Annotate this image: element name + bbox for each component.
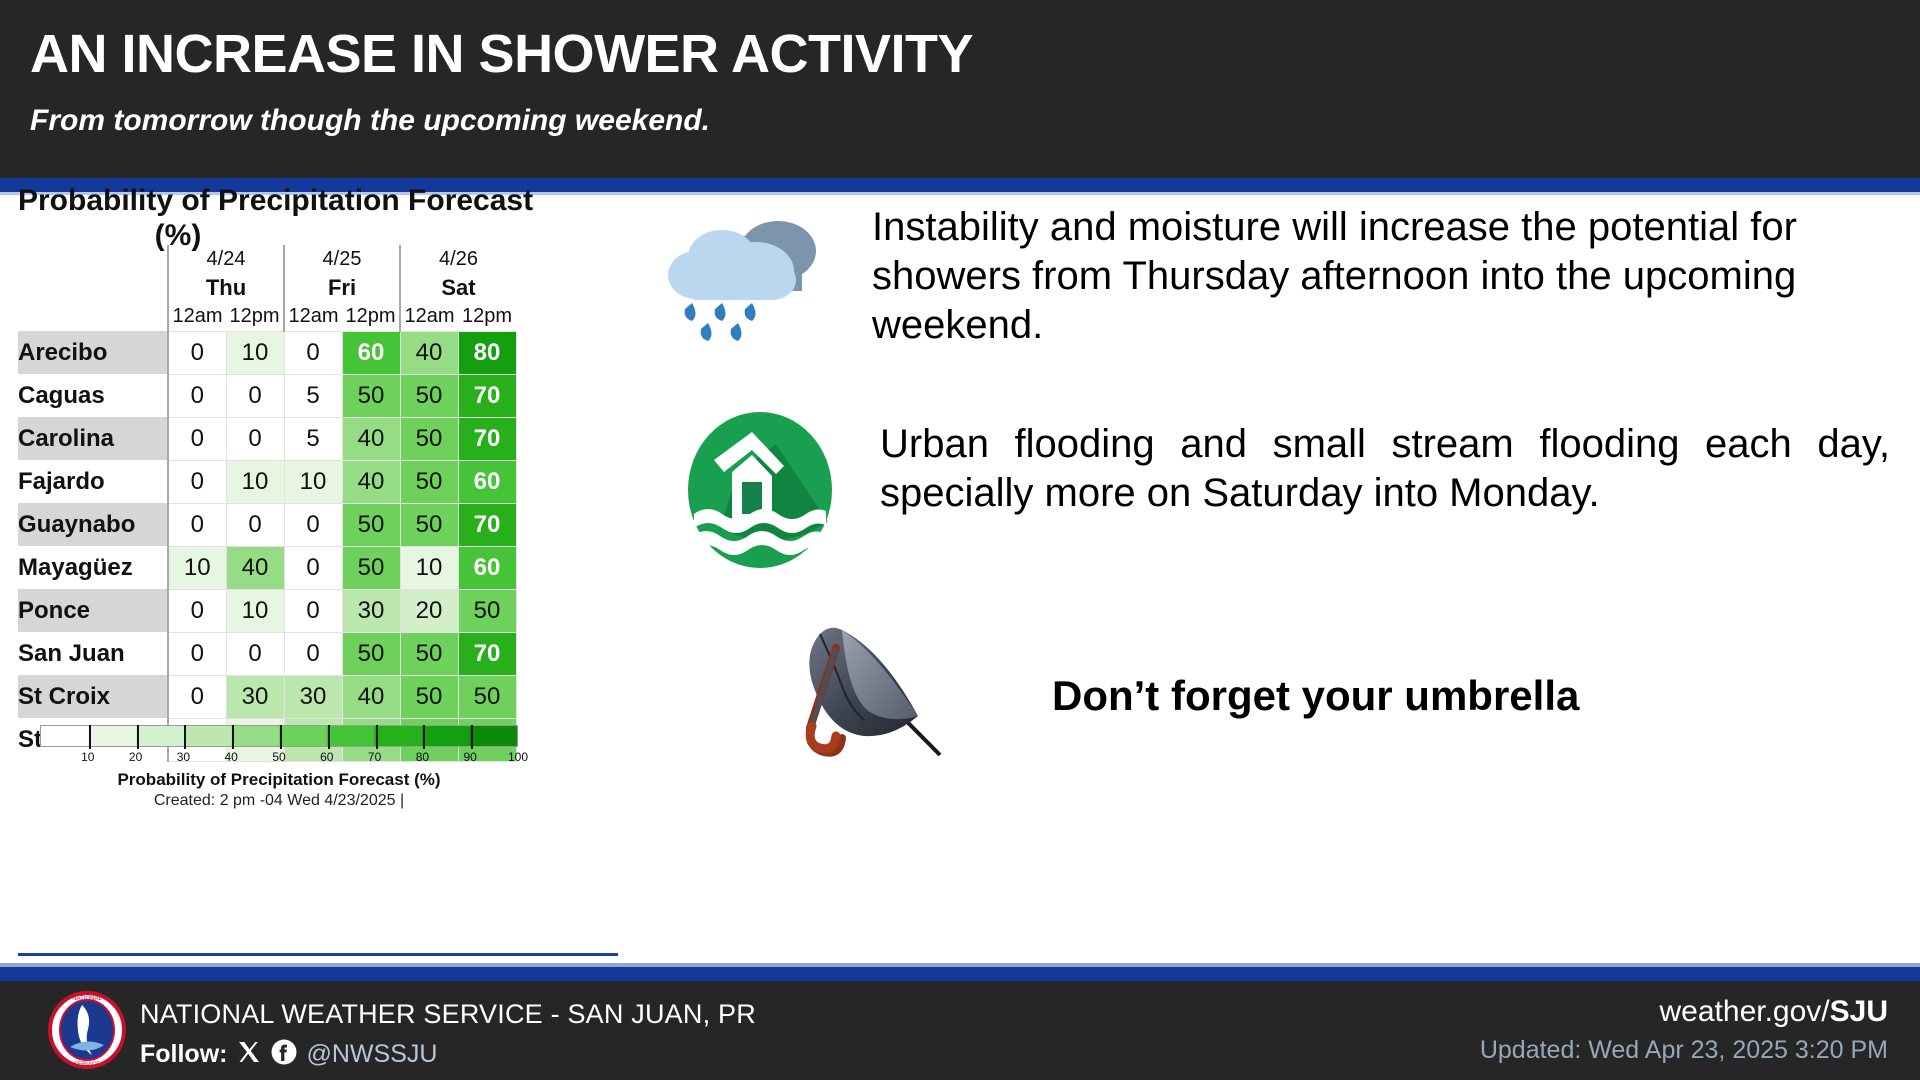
pop-cell: 50 (400, 417, 458, 460)
pop-header-date: 4/26 (400, 245, 516, 273)
pop-cell: 0 (168, 417, 226, 460)
footer-blue-rule (0, 967, 1920, 981)
pop-cell: 0 (284, 632, 342, 675)
table-row: St Croix03030405050 (18, 675, 516, 718)
pop-cell: 50 (342, 374, 400, 417)
umbrella-icon (790, 610, 970, 790)
content-area: Probability of Precipitation Forecast (%… (0, 195, 1920, 965)
footer-bar: NATIONAL SERVICE NATIONAL WEATHER SERVIC… (0, 981, 1920, 1080)
pop-row-city: Ponce (18, 589, 168, 632)
pop-cell: 70 (458, 417, 516, 460)
colorbar-tick (89, 725, 91, 749)
colorbar-tick-label: 100 (508, 750, 528, 764)
colorbar-tick-label: 90 (464, 750, 477, 764)
footer-website-prefix: weather.gov/ (1660, 995, 1830, 1028)
pop-cell: 70 (458, 503, 516, 546)
pop-cell: 70 (458, 632, 516, 675)
nws-seal-logo: NATIONAL SERVICE (48, 991, 126, 1069)
header-banner: AN INCREASE IN SHOWER ACTIVITY From tomo… (0, 0, 1920, 178)
pop-header-date: 4/25 (284, 245, 400, 273)
pop-cell: 0 (168, 374, 226, 417)
pop-table-hour-row: 12am12pm12am12pm12am12pm (18, 303, 516, 331)
pop-cell: 0 (168, 503, 226, 546)
pop-cell: 5 (284, 417, 342, 460)
table-row: Guaynabo000505070 (18, 503, 516, 546)
pop-cell: 5 (284, 374, 342, 417)
pop-table-day-row: ThuFriSat (18, 273, 516, 303)
pop-cell: 0 (168, 460, 226, 503)
colorbar-tick (232, 725, 234, 749)
table-row: Mayagüez10400501060 (18, 546, 516, 589)
pop-cell: 30 (342, 589, 400, 632)
pop-cell: 70 (458, 374, 516, 417)
pop-cell: 50 (342, 546, 400, 589)
pop-cell: 0 (168, 589, 226, 632)
corner-cell-3 (18, 303, 168, 331)
page-subtitle: From tomorrow though the upcoming weeken… (30, 104, 710, 138)
footer-updated-stamp: Updated: Wed Apr 23, 2025 3:20 PM (1480, 1036, 1888, 1065)
pop-cell: 10 (226, 460, 284, 503)
pop-title-line1: Probability of Precipitation Forecast (18, 183, 618, 218)
table-row: Caguas005505070 (18, 374, 516, 417)
pop-cell: 30 (226, 675, 284, 718)
pop-cell: 40 (342, 460, 400, 503)
corner-cell-2 (18, 273, 168, 303)
svg-text:NATIONAL: NATIONAL (72, 996, 102, 1002)
pop-header-day: Fri (284, 273, 400, 303)
pop-header-hour: 12am (168, 303, 226, 331)
pop-cell: 60 (458, 546, 516, 589)
pop-cell: 0 (226, 632, 284, 675)
pop-colorbar-ticklabels: 102030405060708090100 (40, 750, 518, 768)
pop-cell: 0 (168, 675, 226, 718)
corner-cell (18, 245, 168, 273)
bullet-showers-text: Instability and moisture will increase t… (872, 203, 1884, 349)
footer-website-office: SJU (1830, 995, 1888, 1028)
svg-text:SERVICE: SERVICE (74, 1062, 100, 1068)
rain-cloud-icon (660, 205, 850, 345)
pop-forecast-panel: Probability of Precipitation Forecast (%… (18, 195, 618, 955)
pop-cell: 0 (226, 417, 284, 460)
colorbar-tick-label: 60 (320, 750, 333, 764)
pop-row-city: St Croix (18, 675, 168, 718)
pop-cell: 50 (400, 374, 458, 417)
bullet-umbrella-text: Don’t forget your umbrella (1052, 672, 1872, 720)
panel-bottom-divider (18, 953, 618, 956)
pop-row-city: Caguas (18, 374, 168, 417)
colorbar-tick-label: 30 (177, 750, 190, 764)
pop-header-hour: 12am (284, 303, 342, 331)
pop-cell: 10 (168, 546, 226, 589)
pop-cell: 20 (400, 589, 458, 632)
pop-header-hour: 12am (400, 303, 458, 331)
colorbar-tick-label: 40 (225, 750, 238, 764)
colorbar-tick (280, 725, 282, 749)
pop-table-date-row: 4/244/254/26 (18, 245, 516, 273)
pop-row-city: Fajardo (18, 460, 168, 503)
pop-cell: 40 (342, 675, 400, 718)
pop-cell: 0 (168, 632, 226, 675)
pop-table-head: 4/244/254/26 ThuFriSat 12am12pm12am12pm1… (18, 245, 516, 331)
facebook-icon[interactable] (271, 1039, 297, 1070)
colorbar-tick (423, 725, 425, 749)
colorbar-tick (184, 725, 186, 749)
pop-cell: 50 (400, 632, 458, 675)
pop-header-hour: 12pm (226, 303, 284, 331)
pop-cell: 10 (226, 331, 284, 374)
colorbar-tick-label: 10 (81, 750, 94, 764)
pop-cell: 40 (400, 331, 458, 374)
pop-cell: 0 (284, 546, 342, 589)
colorbar-tick-label: 20 (129, 750, 142, 764)
colorbar-tick-label: 50 (272, 750, 285, 764)
pop-cell: 40 (342, 417, 400, 460)
pop-row-city: San Juan (18, 632, 168, 675)
pop-row-city: Guaynabo (18, 503, 168, 546)
x-twitter-icon[interactable] (236, 1039, 262, 1070)
pop-header-day: Thu (168, 273, 284, 303)
pop-row-city: Arecibo (18, 331, 168, 374)
pop-cell: 0 (168, 331, 226, 374)
pop-header-date: 4/24 (168, 245, 284, 273)
pop-cell: 50 (400, 503, 458, 546)
pop-cell: 0 (226, 374, 284, 417)
pop-cell: 50 (458, 675, 516, 718)
pop-created-stamp: Created: 2 pm -04 Wed 4/23/2025 | (40, 792, 518, 810)
pop-cell: 80 (458, 331, 516, 374)
pop-cell: 30 (284, 675, 342, 718)
footer-social-row: Follow: @NWSSJU (140, 1037, 437, 1071)
pop-table-title: Probability of Precipitation Forecast (%… (18, 183, 618, 254)
pop-row-city: Carolina (18, 417, 168, 460)
table-row: Carolina005405070 (18, 417, 516, 460)
pop-row-city: Mayagüez (18, 546, 168, 589)
table-row: San Juan000505070 (18, 632, 516, 675)
footer-agency-name: NATIONAL WEATHER SERVICE - SAN JUAN, PR (140, 999, 756, 1030)
pop-header-hour: 12pm (458, 303, 516, 331)
pop-cell: 50 (458, 589, 516, 632)
pop-cell: 40 (226, 546, 284, 589)
pop-cell: 50 (400, 460, 458, 503)
pop-cell: 10 (284, 460, 342, 503)
pop-cell: 60 (458, 460, 516, 503)
pop-cell: 0 (284, 589, 342, 632)
pop-colorbar (40, 725, 518, 747)
colorbar-tick (471, 725, 473, 749)
colorbar-tick (376, 725, 378, 749)
colorbar-tick (137, 725, 139, 749)
table-row: Arecibo0100604080 (18, 331, 516, 374)
table-row: Ponce0100302050 (18, 589, 516, 632)
pop-colorbar-caption: Probability of Precipitation Forecast (%… (40, 770, 518, 790)
pop-cell: 60 (342, 331, 400, 374)
pop-cell: 50 (342, 503, 400, 546)
colorbar-tick-label: 70 (368, 750, 381, 764)
pop-cell: 0 (284, 503, 342, 546)
table-row: Fajardo01010405060 (18, 460, 516, 503)
bullet-flooding-text: Urban flooding and small stream flooding… (880, 420, 1890, 518)
flooded-house-icon (680, 410, 840, 570)
page-title: AN INCREASE IN SHOWER ACTIVITY (30, 26, 973, 83)
footer-website[interactable]: weather.gov/SJU (1660, 995, 1888, 1029)
colorbar-tick-label: 80 (416, 750, 429, 764)
pop-header-day: Sat (400, 273, 516, 303)
pop-cell: 50 (342, 632, 400, 675)
colorbar-tick (328, 725, 330, 749)
pop-header-hour: 12pm (342, 303, 400, 331)
pop-cell: 0 (284, 331, 342, 374)
pop-table-body: Arecibo0100604080Caguas005505070Carolina… (18, 331, 516, 761)
pop-colorbar-group: 102030405060708090100 Probability of Pre… (40, 725, 518, 810)
pop-cell: 10 (400, 546, 458, 589)
footer-follow-label: Follow: (140, 1040, 227, 1069)
pop-cell: 10 (226, 589, 284, 632)
messages-column: Instability and moisture will increase t… (660, 195, 1900, 955)
pop-cell: 0 (226, 503, 284, 546)
footer-social-handle[interactable]: @NWSSJU (306, 1040, 437, 1069)
pop-cell: 50 (400, 675, 458, 718)
pop-forecast-table: 4/244/254/26 ThuFriSat 12am12pm12am12pm1… (18, 245, 517, 762)
